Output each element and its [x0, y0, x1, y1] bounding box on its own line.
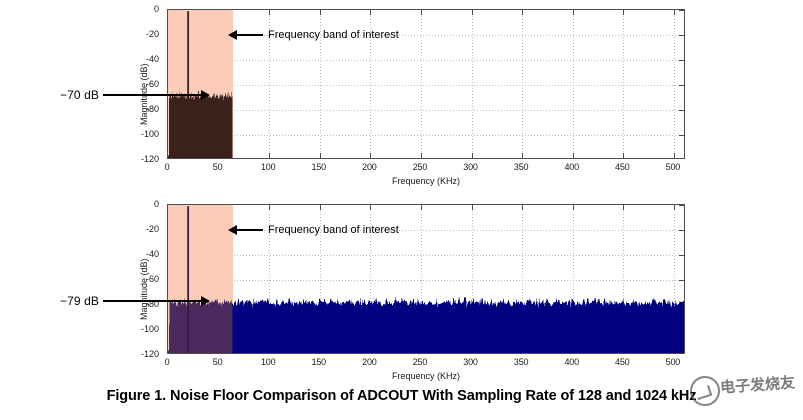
x-tick-label: 400 [564, 357, 578, 367]
figure-caption: Figure 1. Noise Floor Comparison of ADCO… [0, 388, 803, 404]
y-tick-label: -20 [0, 224, 159, 234]
figure-noise-floor-comparison: 0501001502002503003504004505000-20-40-60… [0, 0, 803, 420]
x-tick-label: 150 [312, 357, 326, 367]
y-tick-label: 0 [0, 199, 159, 209]
x-tick-label: 250 [413, 357, 427, 367]
spectrum-area-out-band [168, 296, 684, 353]
noise-floor-callout-bottom: −79 dB [60, 294, 210, 308]
tone-spike [187, 206, 189, 353]
y-tick-label: -80 [0, 104, 159, 114]
y-tick-label: -100 [0, 129, 159, 139]
x-tick-label: 0 [165, 357, 170, 367]
x-tick-label: 350 [514, 162, 528, 172]
x-tick-label: 450 [615, 162, 629, 172]
arrow-shaft [237, 34, 263, 36]
arrow-right-icon [201, 296, 210, 306]
callout-shaft [103, 300, 201, 302]
y-tick-label: -120 [0, 154, 159, 164]
x-tick-label: 300 [463, 357, 477, 367]
band-annotation-label-bottom: Frequency band of interest [268, 224, 399, 236]
x-tick-label: 200 [362, 357, 376, 367]
chart-top: 0501001502002503003504004505000-20-40-60… [0, 0, 803, 190]
arrow-right-icon [201, 90, 210, 100]
chart-bottom: 0501001502002503003504004505000-20-40-60… [0, 195, 803, 385]
x-tick-label: 150 [312, 162, 326, 172]
noise-floor-callout-top: −70 dB [60, 88, 210, 102]
x-tick-label: 100 [261, 357, 275, 367]
x-tick-label: 300 [463, 162, 477, 172]
band-annotation-top: Frequency band of interest [228, 29, 399, 41]
band-annotation-bottom: Frequency band of interest [228, 224, 399, 236]
y-tick-label: 0 [0, 4, 159, 14]
x-tick-label: 50 [213, 162, 223, 172]
x-tick-label: 450 [615, 357, 629, 367]
y-tick-label: -60 [0, 274, 159, 284]
band-annotation-label-top: Frequency band of interest [268, 29, 399, 41]
x-tick-label: 50 [213, 357, 223, 367]
arrow-left-icon [228, 225, 237, 235]
y-tick-label: -20 [0, 29, 159, 39]
y-tick-label: -100 [0, 324, 159, 334]
x-tick-label: 100 [261, 162, 275, 172]
y-tick-label: -40 [0, 249, 159, 259]
x-tick-label: 350 [514, 357, 528, 367]
x-tick-label: 250 [413, 162, 427, 172]
x-axis-title-bottom: Frequency (KHz) [392, 371, 460, 381]
callout-shaft [103, 94, 201, 96]
y-tick-label: -40 [0, 54, 159, 64]
x-axis-title-top: Frequency (KHz) [392, 176, 460, 186]
x-tick-label: 500 [666, 357, 680, 367]
arrow-shaft [237, 229, 263, 231]
x-tick-label: 200 [362, 162, 376, 172]
tone-spike [187, 11, 189, 158]
noise-floor-value-top: −70 dB [60, 88, 99, 102]
x-tick-label: 500 [666, 162, 680, 172]
arrow-left-icon [228, 30, 237, 40]
y-tick-label: -120 [0, 349, 159, 359]
y-axis-title-bottom: Magnitude (dB) [139, 258, 149, 320]
x-tick-label: 0 [165, 162, 170, 172]
noise-floor-value-bottom: −79 dB [60, 294, 99, 308]
x-tick-label: 400 [564, 162, 578, 172]
